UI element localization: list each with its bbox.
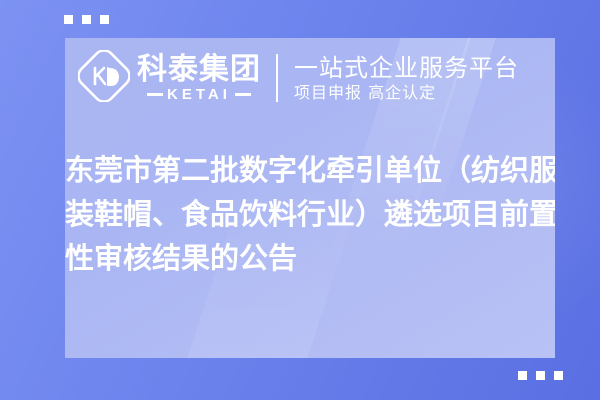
slogan-main: 一站式企业服务平台 (294, 55, 519, 81)
decor-square-icon (536, 371, 545, 380)
announcement-title: 东莞市第二批数字化牵引单位（纺织服装鞋帽、食品饮料行业）遴选项目前置性审核结果的… (65, 148, 555, 280)
brand-logo-lockup: 科泰集团 KETAI (78, 50, 261, 107)
decor-square-icon (554, 371, 563, 380)
brand-wordmark: 科泰集团 KETAI (137, 54, 261, 102)
decorative-dots-top (64, 15, 109, 24)
header-vertical-divider (276, 54, 278, 102)
slogan-sub: 项目申报 高企认定 (294, 84, 519, 102)
poster-card: 科泰集团 KETAI 一站式企业服务平台 项目申报 高企认定 东莞市第二批数字化… (65, 38, 555, 358)
slogan-block: 一站式企业服务平台 项目申报 高企认定 (294, 55, 519, 102)
brand-name-en-row: KETAI (137, 87, 261, 102)
announcement-poster: 科泰集团 KETAI 一站式企业服务平台 项目申报 高企认定 东莞市第二批数字化… (0, 0, 600, 400)
decor-square-icon (100, 15, 109, 24)
wordmark-rule-right (235, 93, 251, 96)
decor-square-icon (82, 15, 91, 24)
wordmark-rule-left (147, 93, 163, 96)
decor-square-icon (64, 15, 73, 24)
brand-name-cn: 科泰集团 (137, 54, 261, 86)
decorative-dots-bottom (518, 371, 563, 380)
kd-diamond-monogram-icon (78, 50, 130, 107)
decor-square-icon (518, 371, 527, 380)
brand-name-en: KETAI (167, 87, 231, 102)
brand-header: 科泰集团 KETAI 一站式企业服务平台 项目申报 高企认定 (65, 38, 555, 118)
